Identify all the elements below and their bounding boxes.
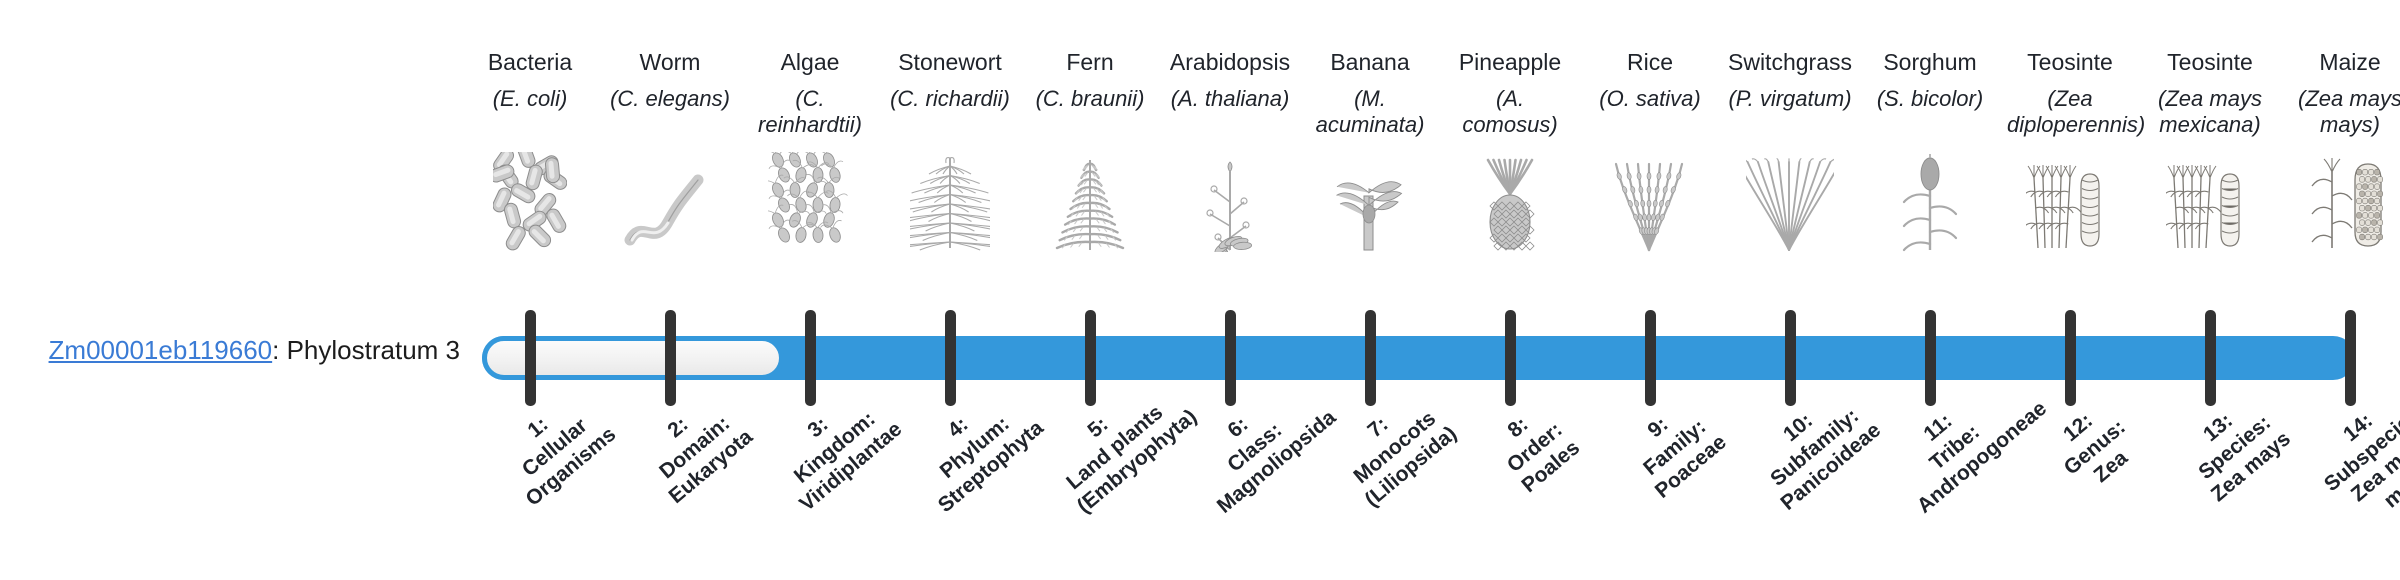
- phylostratum-tick-4[interactable]: [945, 310, 956, 406]
- species-column-stonewort: Stonewort(C. richardii): [887, 48, 1013, 112]
- species-common-name: Fern: [1027, 48, 1153, 77]
- species-column-maize: Maize(Zea mays mays): [2287, 48, 2400, 139]
- teosinte-diplo-icon: [2007, 152, 2133, 252]
- switchgrass-icon: [1727, 152, 1853, 252]
- species-common-name: Teosinte: [2007, 48, 2133, 77]
- rice-plant-icon: [1587, 152, 1713, 252]
- species-scientific-name: (C. richardii): [887, 86, 1013, 112]
- rank-label-9: 9:Family:Poaceae: [1599, 376, 1750, 520]
- gene-label-separator: :: [272, 335, 286, 365]
- nematode-worm-icon: [607, 152, 733, 252]
- phylostratum-tick-6[interactable]: [1225, 310, 1236, 406]
- species-scientific-name: (C. braunii): [1027, 86, 1153, 112]
- species-column-sorghum: Sorghum(S. bicolor): [1867, 48, 1993, 112]
- rank-label-10: 10:Subfamily:Panicoideae: [1739, 376, 1890, 520]
- pineapple-icon: [1447, 152, 1573, 252]
- phylostratum-tick-1[interactable]: [525, 310, 536, 406]
- species-column-algae: Algae(C. reinhardtii): [747, 48, 873, 139]
- phylostratum-tick-5[interactable]: [1085, 310, 1096, 406]
- rank-label-2: 2:Domain:Eukaryota: [619, 376, 770, 520]
- teosinte-mex-icon: [2147, 152, 2273, 252]
- stonewort-icon: [887, 152, 1013, 252]
- species-column-fern: Fern(C. braunii): [1027, 48, 1153, 112]
- phylostratum-tick-10[interactable]: [1785, 310, 1796, 406]
- arabidopsis-icon: [1167, 152, 1293, 252]
- species-common-name: Banana: [1307, 48, 1433, 77]
- rank-label-3: 3:Kingdom:Viridiplantae: [759, 376, 910, 520]
- phylostratum-value: Phylostratum 3: [287, 335, 460, 365]
- gene-phylostratum-label: Zm00001eb119660: Phylostratum 3: [40, 335, 460, 366]
- species-common-name: Worm: [607, 48, 733, 77]
- gene-id-link[interactable]: Zm00001eb119660: [49, 335, 273, 365]
- species-scientific-name: (Zea mays mays): [2287, 86, 2400, 139]
- rank-label-7: 7:Monocots(Liliopsida): [1319, 376, 1470, 520]
- phylostratum-tick-11[interactable]: [1925, 310, 1936, 406]
- bacteria-rods-icon: [467, 152, 593, 252]
- phylostratum-tick-9[interactable]: [1645, 310, 1656, 406]
- phylostratum-tick-12[interactable]: [2065, 310, 2076, 406]
- species-scientific-name: (A. comosus): [1447, 86, 1573, 139]
- rank-label-11: 11:Tribe:Andropogoneae: [1879, 376, 2030, 520]
- species-common-name: Stonewort: [887, 48, 1013, 77]
- species-column-banana: Banana(M. acuminata): [1307, 48, 1433, 139]
- species-scientific-name: (O. sativa): [1587, 86, 1713, 112]
- phylostratum-figure: Zm00001eb119660: Phylostratum 3 Bacteria…: [0, 0, 2400, 580]
- rank-label-6: 6:Class:Magnoliopsida: [1179, 376, 1330, 520]
- species-column-pineapple: Pineapple(A. comosus): [1447, 48, 1573, 139]
- species-scientific-name: (Zea mays mexicana): [2147, 86, 2273, 139]
- species-common-name: Sorghum: [1867, 48, 1993, 77]
- rank-label-8: 8:Order:Poales: [1459, 376, 1610, 520]
- species-common-name: Teosinte: [2147, 48, 2273, 77]
- banana-plant-icon: [1307, 152, 1433, 252]
- species-scientific-name: (P. virgatum): [1727, 86, 1853, 112]
- phylostratum-tick-13[interactable]: [2205, 310, 2216, 406]
- species-column-arabidopsis: Arabidopsis(A. thaliana): [1167, 48, 1293, 112]
- species-column-rice: Rice(O. sativa): [1587, 48, 1713, 112]
- species-scientific-name: (C. elegans): [607, 86, 733, 112]
- species-scientific-name: (A. thaliana): [1167, 86, 1293, 112]
- rank-label-1: 1:CellularOrganisms: [479, 376, 630, 520]
- species-common-name: Rice: [1587, 48, 1713, 77]
- algae-cells-icon: [747, 152, 873, 252]
- phylostratum-tick-2[interactable]: [665, 310, 676, 406]
- maize-ear-icon: [2287, 152, 2400, 252]
- rank-label-13: 13:Species:Zea mays: [2159, 376, 2310, 520]
- species-common-name: Arabidopsis: [1167, 48, 1293, 77]
- species-common-name: Algae: [747, 48, 873, 77]
- rank-label-12: 12:Genus:Zea: [2019, 376, 2170, 520]
- species-common-name: Switchgrass: [1727, 48, 1853, 77]
- phylostratum-tick-7[interactable]: [1365, 310, 1376, 406]
- species-scientific-name: (E. coli): [467, 86, 593, 112]
- species-column-worm: Worm(C. elegans): [607, 48, 733, 112]
- rank-label-4: 4:Phylum:Streptophyta: [899, 376, 1050, 520]
- species-scientific-name: (M. acuminata): [1307, 86, 1433, 139]
- rank-label-5: 5:Land plants(Embryophyta): [1039, 376, 1190, 520]
- species-scientific-name: (C. reinhardtii): [747, 86, 873, 139]
- phylostratum-tick-8[interactable]: [1505, 310, 1516, 406]
- sorghum-icon: [1867, 152, 1993, 252]
- phylostratum-tick-3[interactable]: [805, 310, 816, 406]
- species-column-bacteria: Bacteria(E. coli): [467, 48, 593, 112]
- species-common-name: Bacteria: [467, 48, 593, 77]
- species-common-name: Pineapple: [1447, 48, 1573, 77]
- species-column-switchgrass: Switchgrass(P. virgatum): [1727, 48, 1853, 112]
- species-common-name: Maize: [2287, 48, 2400, 77]
- species-column-teosinte: Teosinte(Zea mays mexicana): [2147, 48, 2273, 139]
- phylostratum-tick-14[interactable]: [2345, 310, 2356, 406]
- fern-frond-icon: [1027, 152, 1153, 252]
- species-scientific-name: (S. bicolor): [1867, 86, 1993, 112]
- species-column-teosinte: Teosinte(Zea diploperennis): [2007, 48, 2133, 139]
- species-scientific-name: (Zea diploperennis): [2007, 86, 2133, 139]
